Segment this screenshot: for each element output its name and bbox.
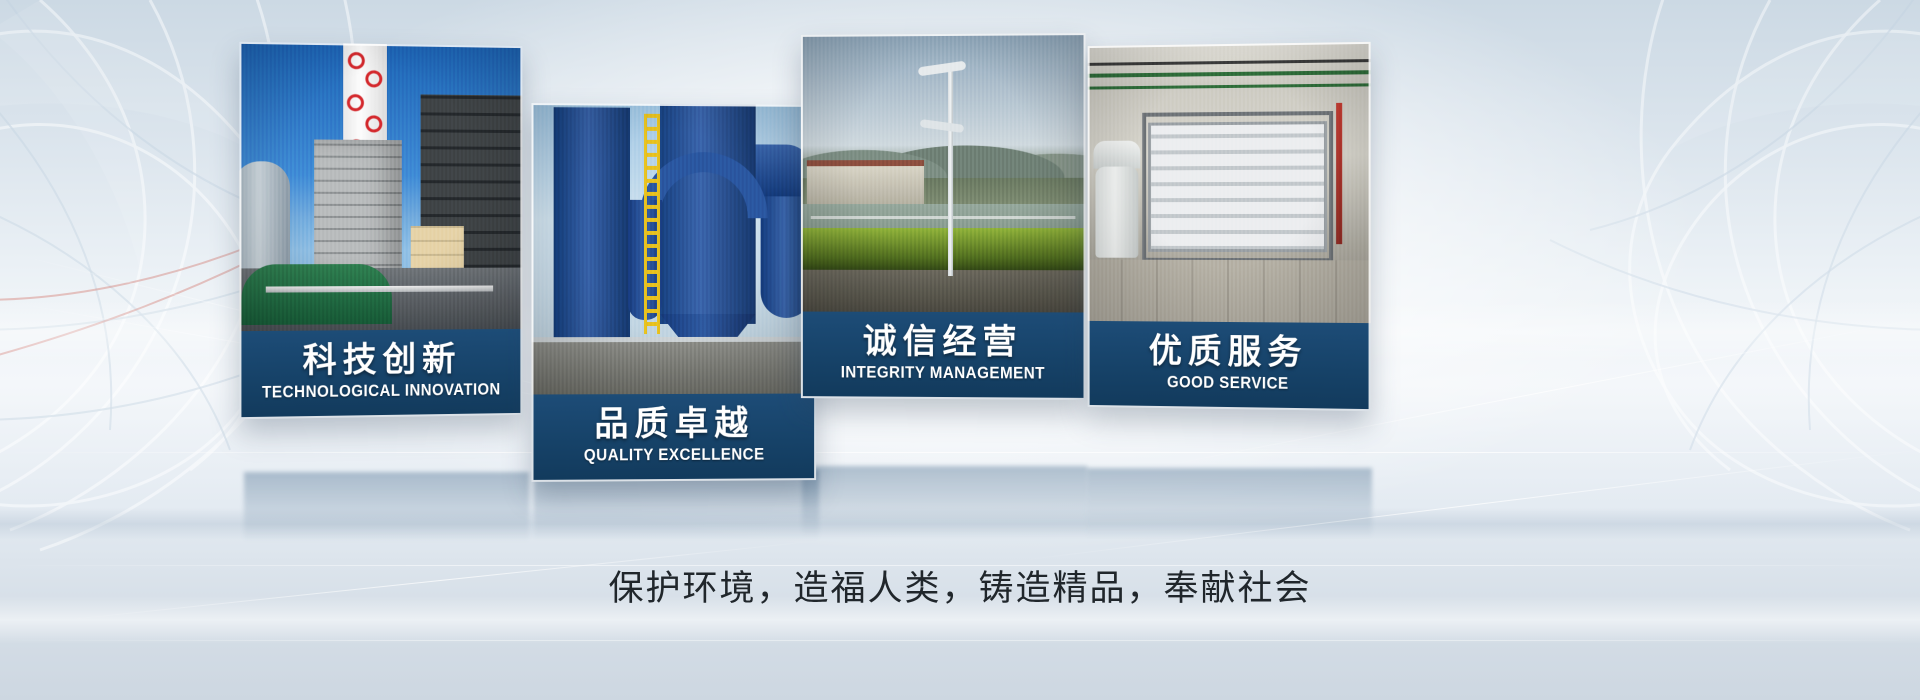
card-caption-band-4: 优质服务 GOOD SERVICE [1088,321,1371,411]
card-title-cn-4: 优质服务 [1088,331,1371,374]
card-reflection-3 [802,466,1087,536]
card-photo-sewage-treatment-plant [801,33,1086,312]
card-title-en-4: GOOD SERVICE [1099,373,1359,395]
feature-card-quality-excellence[interactable]: 品质卓越 QUALITY EXCELLENCE [531,103,816,482]
card-title-cn-2: 品质卓越 [531,403,816,444]
card-reflection-4 [1087,468,1372,538]
feature-card-integrity-management[interactable]: 诚信经营 INTEGRITY MANAGEMENT [801,33,1086,400]
card-reflection-1 [244,472,529,542]
card-caption-band-3: 诚信经营 INTEGRITY MANAGEMENT [801,312,1086,400]
card-title-en-1: TECHNOLOGICAL INNOVATION [251,381,511,403]
card-caption-band-1: 科技创新 TECHNOLOGICAL INNOVATION [239,329,522,419]
card-title-cn-3: 诚信经营 [801,321,1086,362]
card-photo-water-treatment-room [1088,42,1371,323]
feature-card-technological-innovation[interactable]: 科技创新 TECHNOLOGICAL INNOVATION [239,42,522,419]
card-caption-band-2: 品质卓越 QUALITY EXCELLENCE [531,393,816,482]
hero-banner: 科技创新 TECHNOLOGICAL INNOVATION [0,0,1920,700]
banner-tagline: 保护环境，造福人类，铸造精品，奉献社会 [0,560,1920,611]
feature-card-good-service[interactable]: 优质服务 GOOD SERVICE [1088,42,1371,411]
feature-card-row: 科技创新 TECHNOLOGICAL INNOVATION [0,0,1920,470]
floor-line-3 [0,640,1920,641]
card-photo-power-plant-chimney [239,42,522,331]
card-title-cn-1: 科技创新 [239,339,522,382]
card-title-en-3: INTEGRITY MANAGEMENT [812,363,1074,383]
card-photo-blue-dust-collector [531,103,816,394]
card-title-en-2: QUALITY EXCELLENCE [543,445,805,465]
